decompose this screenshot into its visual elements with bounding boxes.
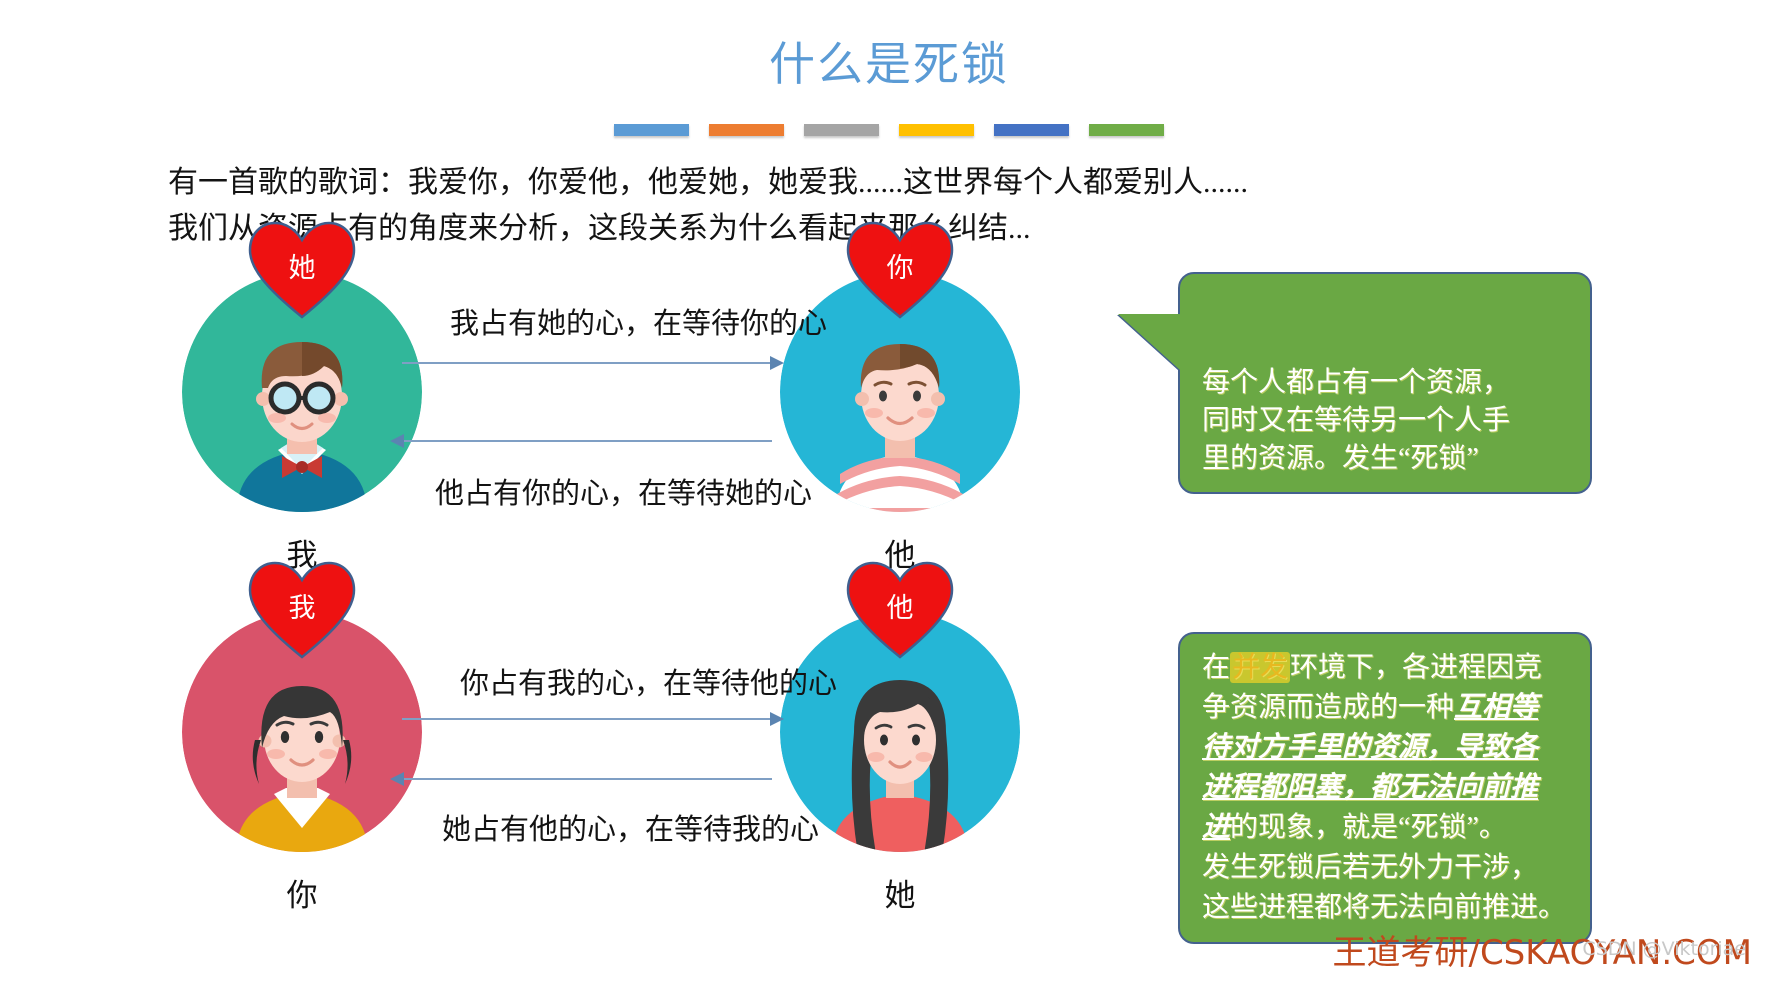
- heart-label: 他: [844, 586, 956, 625]
- emphasis-run: 互相等: [1454, 692, 1538, 723]
- text-run: 在: [1202, 652, 1230, 683]
- text-run: 的现象，就是“死锁”。: [1230, 812, 1507, 843]
- heart-badge: 她: [246, 220, 358, 320]
- heart-badge: 我: [246, 560, 358, 660]
- person-caption: 她: [780, 870, 1020, 915]
- callout-bottom-line-5: 进的现象，就是“死锁”。: [1202, 808, 1570, 848]
- page-title: 什么是死锁: [0, 28, 1778, 94]
- callout-bottom-line-3: 待对方手里的资源，导致各: [1202, 728, 1570, 768]
- accent-bar-6: [1089, 124, 1164, 136]
- watermark-csdn: CSDN @Viktoriae: [1582, 938, 1746, 960]
- arrowhead-left-icon: [390, 772, 404, 786]
- heart-label: 我: [246, 586, 358, 625]
- arrow-label: 我占有她的心，在等待你的心: [450, 300, 827, 342]
- person-bottom-left: 我 你: [182, 612, 422, 852]
- emphasis-run: 进: [1202, 812, 1230, 843]
- heart-badge: 你: [844, 220, 956, 320]
- callout-tail: [1118, 314, 1180, 370]
- text-run: 争资源而造成的一种: [1202, 692, 1454, 723]
- callout-top: 每个人都占有一个资源， 同时又在等待另一个人手 里的资源。发生“死锁”: [1178, 272, 1592, 494]
- accent-bar-5: [994, 124, 1069, 136]
- accent-bar-1: [614, 124, 689, 136]
- heart-label: 她: [246, 246, 358, 285]
- arrow-label: 她占有他的心，在等待我的心: [442, 806, 819, 848]
- callout-bottom: 在并发环境下，各进程因竞 争资源而造成的一种互相等 待对方手里的资源，导致各 进…: [1178, 632, 1592, 944]
- accent-bar-4: [899, 124, 974, 136]
- person-top-left: 她 我: [182, 272, 422, 512]
- intro-paragraph: 有一首歌的歌词：我爱你，你爱他，他爱她，她爱我......这世界每个人都爱别人.…: [168, 160, 1468, 252]
- accent-bar-2: [709, 124, 784, 136]
- highlighted-term: 并发: [1230, 652, 1290, 683]
- person-caption: 你: [182, 870, 422, 915]
- arrow-label: 他占有你的心，在等待她的心: [435, 470, 812, 512]
- heart-badge: 他: [844, 560, 956, 660]
- callout-bottom-line-1: 在并发环境下，各进程因竞: [1202, 648, 1570, 688]
- slide-canvas: 什么是死锁 有一首歌的歌词：我爱你，你爱他，他爱她，她爱我......这世界每个…: [0, 0, 1778, 990]
- accent-bar-group: [614, 124, 1164, 136]
- text-run: 环境下，各进程因竞: [1290, 652, 1542, 683]
- callout-bottom-line-2: 争资源而造成的一种互相等: [1202, 688, 1570, 728]
- heart-label: 你: [844, 246, 956, 285]
- arrowhead-left-icon: [390, 434, 404, 448]
- arrowhead-right-icon: [770, 712, 784, 726]
- callout-bottom-line-7: 这些进程都将无法向前推进。: [1202, 888, 1570, 928]
- accent-bar-3: [804, 124, 879, 136]
- callout-bottom-line-6: 发生死锁后若无外力干涉，: [1202, 848, 1570, 888]
- arrowhead-right-icon: [770, 356, 784, 370]
- callout-bottom-line-4: 进程都阻塞，都无法向前推: [1202, 768, 1570, 808]
- callout-top-text: 每个人都占有一个资源， 同时又在等待另一个人手 里的资源。发生“死锁”: [1202, 367, 1510, 474]
- arrow-label: 你占有我的心，在等待他的心: [460, 660, 837, 702]
